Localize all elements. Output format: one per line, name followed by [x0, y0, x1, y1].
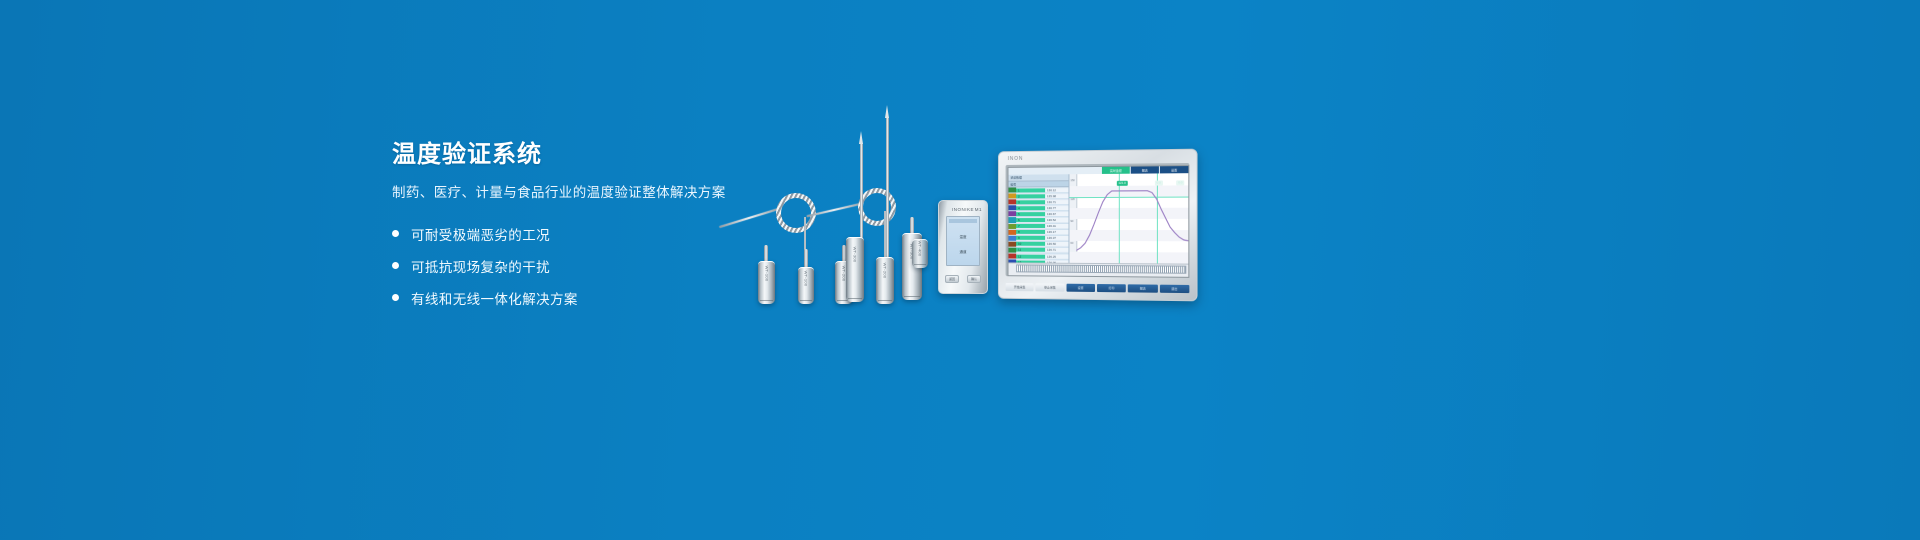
bullet-dot-icon	[392, 230, 399, 237]
chart-series-line	[1076, 173, 1188, 264]
channel-color-swatch	[1008, 194, 1016, 199]
handheld-brand-text: INONIKE	[952, 207, 974, 212]
btn-start-capture[interactable]: 开始采集	[1006, 283, 1034, 291]
data-logger: WT-200	[876, 257, 894, 304]
channel-color-swatch	[1008, 254, 1016, 259]
monitor-button-bar: 开始采集 停止采集 设置 打印 报表 退出	[1006, 279, 1190, 297]
data-logger-small: WT-400	[912, 239, 928, 268]
logger-cap	[804, 249, 808, 269]
channel-color-swatch	[1008, 206, 1016, 211]
logger-label: WT-200	[883, 263, 888, 279]
handheld-reader[interactable]: INONIKE M1 温度 通道 返回 确认	[938, 200, 988, 294]
channel-color-swatch	[1008, 200, 1016, 205]
app-body: 通道数据 编号 1136.12 2135.98 3136.71 4136.77 …	[1008, 173, 1188, 264]
cell-channel: 8	[1016, 230, 1045, 234]
cell-value: 136.52	[1045, 218, 1068, 222]
handheld-model-text: M1	[975, 207, 982, 212]
cell-channel: 1	[1016, 188, 1045, 192]
cell-channel: 9	[1016, 236, 1045, 240]
cell-channel: 3	[1016, 200, 1045, 204]
cell-value: 136.17	[1045, 230, 1068, 234]
cell-channel: 10	[1016, 242, 1045, 246]
cell-channel: 5	[1016, 212, 1045, 216]
handheld-button-row: 返回 确认	[945, 270, 981, 288]
cell-value: 136.77	[1045, 206, 1068, 210]
hero-banner: 温度验证系统 制药、医疗、计量与食品行业的温度验证整体解决方案 可耐受极端恶劣的…	[0, 0, 1920, 540]
cell-value: 136.71	[1045, 248, 1068, 252]
channel-color-swatch	[1008, 218, 1016, 223]
logger-label: WT-100	[764, 266, 769, 282]
handheld-back-button[interactable]: 返回	[945, 275, 959, 283]
logger-label: WT-100	[804, 271, 809, 287]
data-logger: WT-100	[798, 267, 814, 304]
channel-color-swatch	[1008, 236, 1016, 241]
feature-label: 可抵抗现场复杂的干扰	[411, 256, 550, 276]
cell-value: 136.12	[1045, 188, 1068, 192]
handheld-screen: 温度 通道	[946, 216, 980, 266]
channel-color-swatch	[1008, 248, 1016, 253]
timeline-scrollbar[interactable]	[1016, 264, 1186, 273]
feature-label: 有线和无线一体化解决方案	[411, 288, 578, 308]
cell-channel: 12	[1016, 254, 1045, 258]
probe-coil	[776, 193, 816, 233]
channel-color-swatch	[1008, 212, 1016, 217]
handheld-statusbar	[949, 219, 977, 223]
cell-value: 136.71	[1045, 200, 1068, 204]
cell-channel: 6	[1016, 218, 1045, 222]
btn-settings[interactable]: 设置	[1066, 284, 1095, 292]
handheld-line1: 温度	[950, 235, 976, 240]
handheld-line2: 通道	[950, 250, 976, 255]
probe-coil	[858, 188, 896, 226]
channel-color-swatch	[1008, 242, 1016, 247]
temperature-chart[interactable]: 150 120 90 60 30	[1069, 173, 1188, 264]
app-footer	[1008, 262, 1188, 276]
y-tick: 120	[1070, 198, 1074, 201]
cell-channel: 11	[1016, 248, 1045, 252]
probe-wire	[719, 208, 779, 228]
handheld-brand: INONIKE M1	[939, 207, 987, 212]
monitor-bezel: 实时监控 报表 设置 通道数据 编号 1136.12 2135.98 3136.…	[1006, 163, 1190, 278]
data-logger: WT-300	[846, 237, 864, 302]
logger-label: WT-300	[853, 247, 858, 263]
channel-table: 通道数据 编号 1136.12 2135.98 3136.71 4136.77 …	[1008, 174, 1069, 264]
monitor-screen: 实时监控 报表 设置 通道数据 编号 1136.12 2135.98 3136.…	[1008, 165, 1190, 278]
logger-label: WT-400	[918, 241, 923, 257]
data-logger: WT-100	[758, 261, 775, 304]
cell-value: 135.98	[1045, 194, 1068, 198]
channel-color-swatch	[1008, 230, 1016, 235]
cell-value: 136.41	[1045, 224, 1068, 228]
y-tick: 90	[1070, 220, 1073, 223]
cell-value: 136.37	[1045, 236, 1068, 240]
channel-color-swatch	[1008, 224, 1016, 229]
monitor-brand: INON	[1008, 156, 1024, 162]
cell-channel: 7	[1016, 224, 1045, 228]
cell-value: 136.67	[1045, 212, 1068, 216]
handheld-confirm-button[interactable]: 确认	[967, 275, 981, 283]
product-scene: WT-100 WT-100 WT-200 WT-200 WT-300 WT-30…	[700, 95, 1260, 335]
btn-report[interactable]: 报表	[1128, 284, 1157, 292]
y-tick: 150	[1070, 179, 1074, 182]
needle-probe-long	[886, 117, 889, 269]
btn-print[interactable]: 打印	[1097, 284, 1126, 292]
bullet-dot-icon	[392, 262, 399, 269]
channel-color-swatch	[1008, 188, 1016, 193]
cell-channel: 2	[1016, 194, 1045, 198]
monitor-display: INON 实时监控 报表 设置 通道数据 编号	[998, 149, 1198, 302]
feature-label: 可耐受极端恶劣的工况	[411, 224, 550, 244]
btn-exit[interactable]: 退出	[1160, 285, 1190, 293]
bullet-dot-icon	[392, 294, 399, 301]
cell-channel: 4	[1016, 206, 1045, 210]
cell-value: 136.50	[1045, 242, 1068, 246]
y-tick: 60	[1070, 242, 1073, 245]
btn-stop-capture[interactable]: 停止采集	[1036, 283, 1064, 291]
cell-value: 136.25	[1045, 254, 1068, 258]
